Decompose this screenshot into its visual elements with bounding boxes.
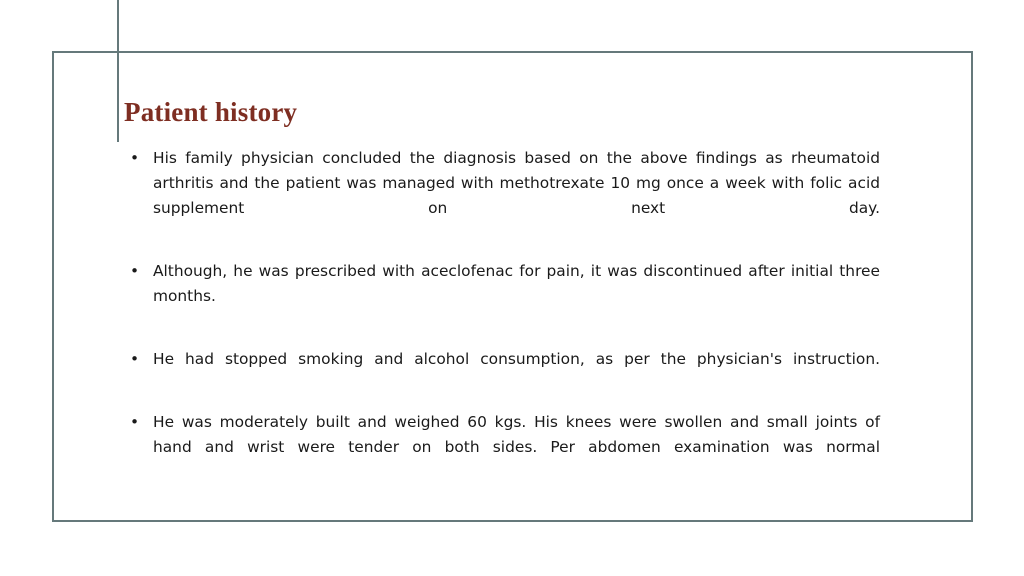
list-item-text: His family physician concluded the diagn…	[153, 146, 880, 246]
slide-canvas: Patient history • His family physician c…	[0, 0, 1024, 576]
slide-title: Patient history	[124, 95, 297, 129]
list-item: • His family physician concluded the dia…	[128, 146, 880, 246]
bullet-marker-icon: •	[130, 347, 144, 372]
list-item-text: Although, he was prescribed with aceclof…	[153, 259, 880, 334]
list-item: • He was moderately built and weighed 60…	[128, 410, 880, 485]
bullet-marker-icon: •	[130, 259, 144, 284]
bullet-marker-icon: •	[130, 410, 144, 435]
list-item: • Although, he was prescribed with acecl…	[128, 259, 880, 334]
patient-history-bullet-list: • His family physician concluded the dia…	[128, 146, 880, 485]
list-item-text: He had stopped smoking and alcohol consu…	[153, 347, 880, 397]
bullet-marker-icon: •	[130, 146, 144, 171]
list-item-text: He was moderately built and weighed 60 k…	[153, 410, 880, 485]
list-item: • He had stopped smoking and alcohol con…	[128, 347, 880, 397]
